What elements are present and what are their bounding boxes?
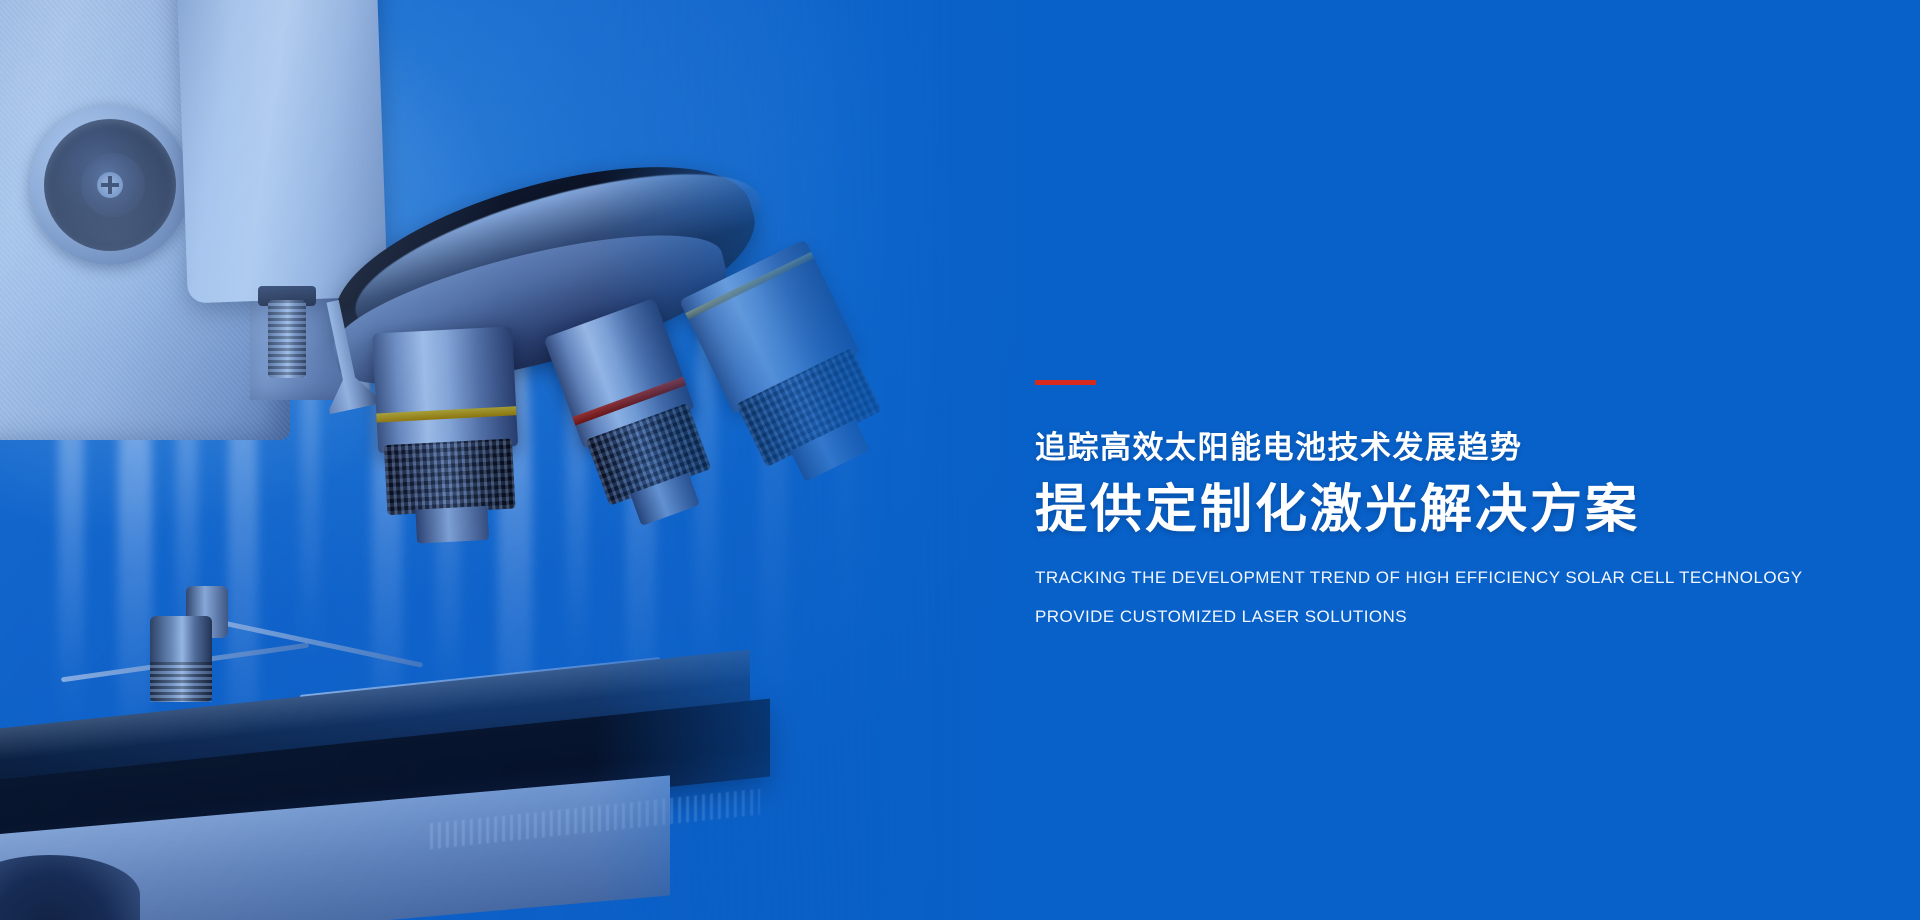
banner-copy: 追踪高效太阳能电池技术发展趋势 提供定制化激光解决方案 TRACKING THE… [1035, 380, 1855, 625]
headline-small: 追踪高效太阳能电池技术发展趋势 [1035, 431, 1855, 465]
accent-rule [1035, 380, 1096, 385]
microscope-photo [0, 0, 960, 920]
subtitle-line-1: TRACKING THE DEVELOPMENT TREND OF HIGH E… [1035, 569, 1855, 586]
photo-glow [0, 0, 960, 920]
headline-large: 提供定制化激光解决方案 [1035, 481, 1855, 539]
hero-banner: 追踪高效太阳能电池技术发展趋势 提供定制化激光解决方案 TRACKING THE… [0, 0, 1920, 920]
subtitle-line-2: PROVIDE CUSTOMIZED LASER SOLUTIONS [1035, 608, 1855, 625]
